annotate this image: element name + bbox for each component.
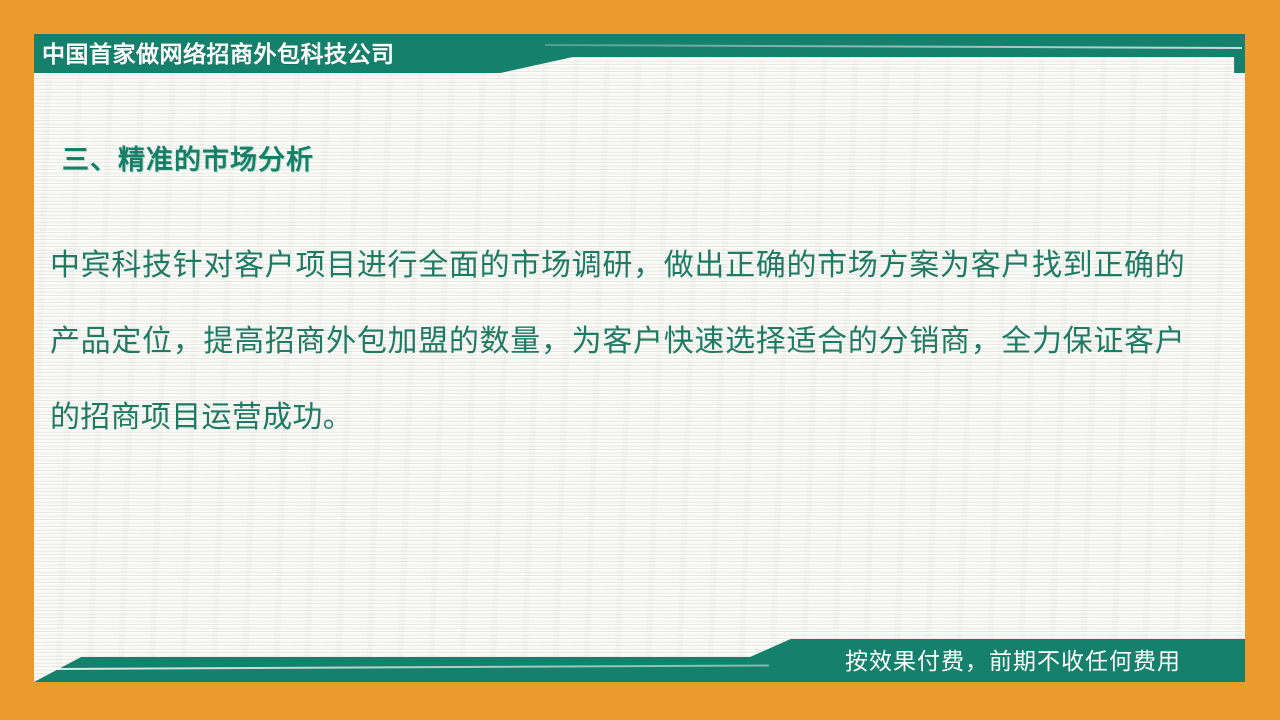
section-heading: 三、精准的市场分析	[62, 138, 314, 177]
body-paragraph: 中宾科技针对客户项目进行全面的市场调研，做出正确的市场方案为客户找到正确的产品定…	[50, 228, 1185, 456]
presentation-slide: 中国首家做网络招商外包科技公司 三、精准的市场分析 中宾科技针对客户项目进行全面…	[0, 0, 1280, 720]
footer-slogan: 按效果付费，前期不收任何费用	[845, 644, 1181, 678]
header-title: 中国首家做网络招商外包科技公司	[42, 36, 395, 72]
